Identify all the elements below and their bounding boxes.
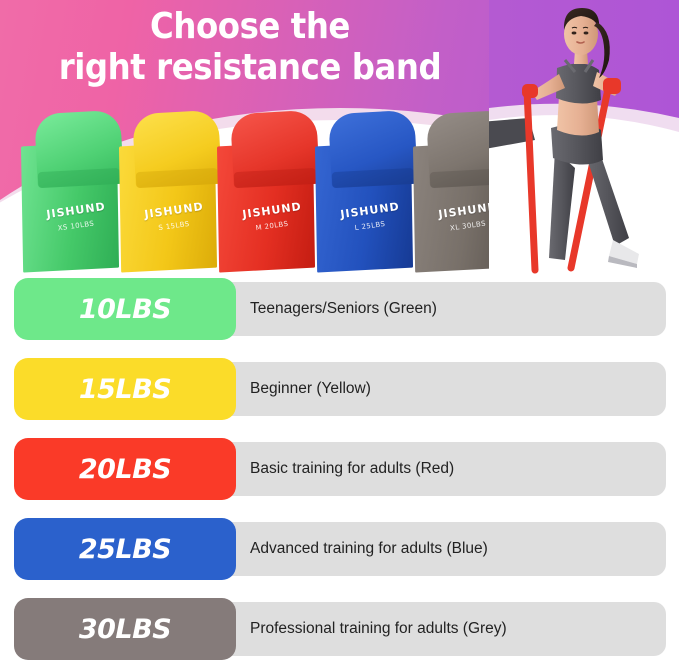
legend-row-30lbs: 30LBS Professional training for adults (… — [0, 598, 679, 660]
legend-row-10lbs-description: Teenagers/Seniors (Green) — [250, 278, 437, 340]
title-line-1: Choose the — [25, 6, 475, 47]
legend-row-30lbs-description: Professional training for adults (Grey) — [250, 598, 507, 660]
legend-row-25lbs: 25LBS Advanced training for adults (Blue… — [0, 518, 679, 580]
legend-row-25lbs-weight: 25LBS — [14, 518, 236, 580]
title-line-2: right resistance band — [25, 47, 475, 88]
resistance-band-infographic: Choose the right resistance band — [0, 0, 679, 668]
legend-row-25lbs-description: Advanced training for adults (Blue) — [250, 518, 488, 580]
legend-row-25lbs-chip: 25LBS — [14, 518, 236, 580]
legend-row-15lbs-weight: 15LBS — [14, 358, 236, 420]
legend-row-20lbs-description: Basic training for adults (Red) — [250, 438, 454, 500]
legend-row-30lbs-weight: 30LBS — [14, 598, 236, 660]
page-title: Choose the right resistance band — [0, 6, 500, 88]
legend-row-20lbs: 20LBS Basic training for adults (Red) — [0, 438, 679, 500]
weight-legend-list: 10LBS Teenagers/Seniors (Green) 15LBS Be… — [0, 278, 679, 668]
model-photo — [489, 0, 679, 278]
legend-row-10lbs-weight: 10LBS — [14, 278, 236, 340]
band-yellow: JISHUND S 15LBS — [120, 112, 228, 270]
band-red: JISHUND M 20LBS — [218, 112, 326, 270]
band-green: JISHUND XS 10LBS — [22, 112, 130, 270]
legend-row-10lbs: 10LBS Teenagers/Seniors (Green) — [0, 278, 679, 340]
legend-row-30lbs-chip: 30LBS — [14, 598, 236, 660]
legend-row-20lbs-chip: 20LBS — [14, 438, 236, 500]
legend-row-10lbs-chip: 10LBS — [14, 278, 236, 340]
legend-row-15lbs-chip: 15LBS — [14, 358, 236, 420]
band-blue: JISHUND L 25LBS — [316, 112, 424, 270]
resistance-bands-display: JISHUND XS 10LBS JISHUND S 15LBS JISHUND… — [0, 112, 520, 277]
legend-row-15lbs-description: Beginner (Yellow) — [250, 358, 371, 420]
legend-row-20lbs-weight: 20LBS — [14, 438, 236, 500]
legend-row-15lbs: 15LBS Beginner (Yellow) — [0, 358, 679, 420]
